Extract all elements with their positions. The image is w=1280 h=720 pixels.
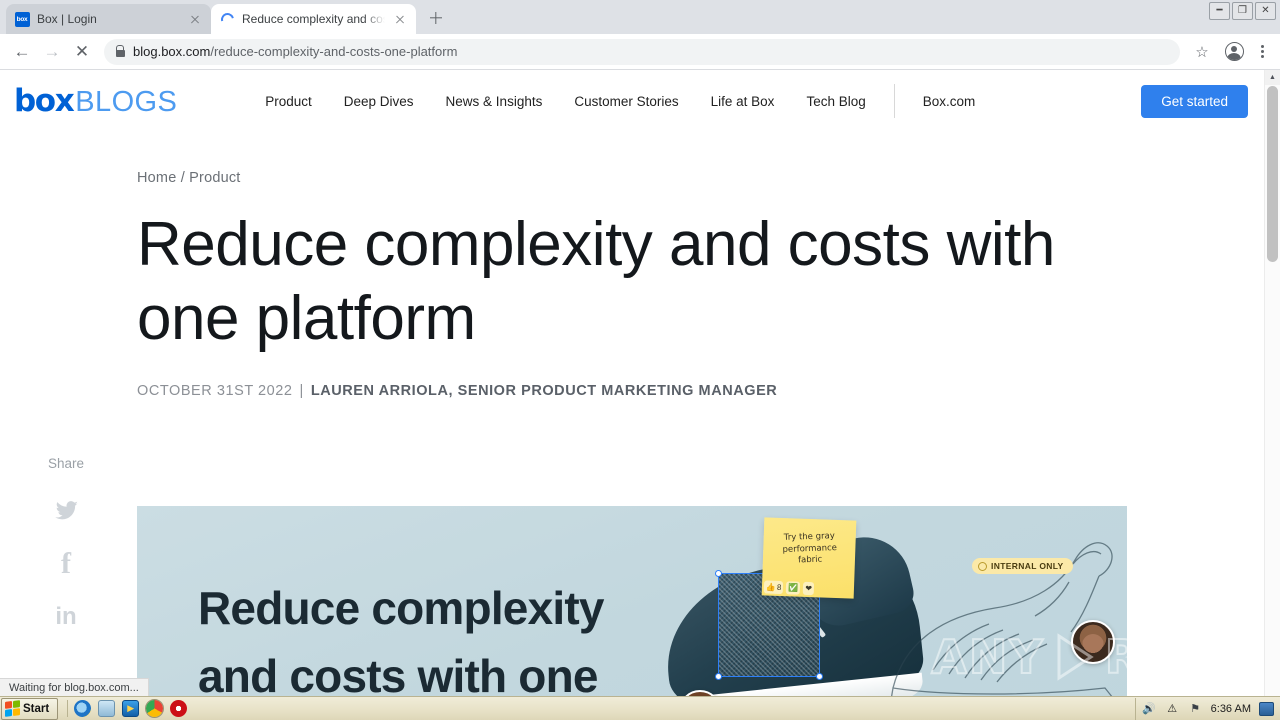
quick-launch: ▶ (67, 700, 187, 717)
tab-close-icon[interactable] (392, 11, 408, 27)
internal-only-badge: INTERNAL ONLY (972, 558, 1073, 574)
nav-item-news-insights[interactable]: News & Insights (430, 94, 559, 109)
reaction-heart[interactable]: ❤ (803, 582, 814, 595)
loading-spinner-icon (219, 11, 235, 27)
sticky-note-text: Try the gray performance fabric (763, 517, 857, 568)
clock[interactable]: 6:36 AM (1211, 703, 1251, 715)
taskbar: Start ▶ 🔊 ⚠ ⚑ 6:36 AM (0, 696, 1280, 720)
internet-explorer-icon[interactable] (74, 700, 91, 717)
breadcrumb[interactable]: Home / Product (137, 170, 1264, 186)
share-label: Share (48, 456, 84, 471)
page-viewport: box BLOGS Product Deep Dives News & Insi… (0, 70, 1280, 720)
kebab-menu-icon[interactable] (1252, 42, 1272, 62)
tab-title: Box | Login (37, 11, 180, 27)
media-player-icon[interactable]: ▶ (122, 700, 139, 717)
lock-icon (116, 50, 125, 57)
nav-divider (894, 84, 895, 118)
article-meta: OCTOBER 31ST 2022 | LAUREN ARRIOLA, SENI… (137, 383, 1264, 399)
shield-icon (978, 562, 987, 571)
stop-loading-button[interactable]: ✕ (68, 38, 96, 66)
nav-item-box-com[interactable]: Box.com (907, 94, 992, 109)
sticky-note[interactable]: Try the gray performance fabric 👍8 ✅ ❤ (762, 517, 857, 598)
profile-avatar-icon[interactable] (1220, 38, 1248, 66)
close-window-button[interactable]: ✕ (1255, 2, 1276, 20)
desktop-folder-icon[interactable] (98, 700, 115, 717)
show-desktop-icon[interactable] (1259, 702, 1274, 716)
start-label: Start (23, 703, 49, 715)
windows-logo-icon (5, 700, 20, 717)
url-path: /reduce-complexity-and-costs-one-platfor… (210, 44, 457, 59)
get-started-button[interactable]: Get started (1141, 85, 1248, 118)
browser-tab-box-login[interactable]: box Box | Login (6, 4, 211, 34)
nav-item-deep-dives[interactable]: Deep Dives (328, 94, 430, 109)
browser-window: box Box | Login Reduce complexity and co… (0, 0, 1280, 720)
reaction-thumbs-up[interactable]: 👍8 (764, 580, 784, 594)
publish-date: OCTOBER 31ST 2022 (137, 383, 293, 399)
url-host: blog.box.com (133, 44, 210, 59)
address-bar[interactable]: blog.box.com/reduce-complexity-and-costs… (104, 39, 1180, 65)
box-favicon: box (14, 11, 30, 27)
nav-item-customer-stories[interactable]: Customer Stories (558, 94, 694, 109)
shoe-illustration: Try the gray performance fabric 👍8 ✅ ❤ I… (657, 506, 1127, 720)
bookmark-star-icon[interactable]: ☆ (1188, 38, 1216, 66)
hero-image: Reduce complexity and costs with one pla… (137, 506, 1127, 720)
status-bar: Waiting for blog.box.com... (0, 678, 149, 696)
facebook-icon[interactable]: f (53, 551, 79, 577)
sticky-note-reactions[interactable]: 👍8 ✅ ❤ (764, 580, 815, 595)
start-button[interactable]: Start (1, 698, 58, 720)
page-content: box BLOGS Product Deep Dives News & Insi… (0, 70, 1264, 720)
scroll-up-arrow[interactable]: ▲ (1265, 70, 1280, 85)
linkedin-icon[interactable]: in (53, 604, 79, 630)
back-button[interactable]: ← (8, 38, 36, 66)
logo-suffix: BLOGS (75, 86, 177, 119)
browser-tab-blog-post[interactable]: Reduce complexity and costs with on (211, 4, 416, 34)
site-header: box BLOGS Product Deep Dives News & Insi… (0, 70, 1264, 132)
nav-item-life-at-box[interactable]: Life at Box (695, 94, 791, 109)
forward-button[interactable]: → (38, 38, 66, 66)
window-controls: ━ ❐ ✕ (1209, 2, 1276, 20)
reaction-check[interactable]: ✅ (786, 581, 800, 594)
system-tray: 🔊 ⚠ ⚑ 6:36 AM (1135, 698, 1280, 720)
tab-title: Reduce complexity and costs with on (242, 11, 385, 27)
new-tab-button[interactable] (422, 4, 450, 32)
internal-only-label: INTERNAL ONLY (991, 561, 1064, 571)
security-alert-icon[interactable]: ⚠ (1165, 702, 1180, 716)
opera-icon[interactable] (170, 700, 187, 717)
main-navigation: Product Deep Dives News & Insights Custo… (249, 84, 1141, 118)
scrollbar-thumb[interactable] (1267, 86, 1278, 262)
browser-toolbar: ← → ✕ blog.box.com/reduce-complexity-and… (0, 34, 1280, 70)
volume-icon[interactable]: 🔊 (1142, 702, 1157, 716)
article-header: Home / Product Reduce complexity and cos… (0, 132, 1264, 399)
page-title: Reduce complexity and costs with one pla… (137, 208, 1137, 356)
minimize-button[interactable]: ━ (1209, 2, 1230, 20)
share-rail: Share f in (48, 456, 84, 630)
nav-item-product[interactable]: Product (249, 94, 328, 109)
logo-brand: box (14, 83, 73, 119)
nav-item-tech-blog[interactable]: Tech Blog (790, 94, 881, 109)
tab-strip: box Box | Login Reduce complexity and co… (0, 0, 1280, 34)
page-scrollbar[interactable]: ▲ (1264, 70, 1280, 720)
toolbar-actions: ☆ (1188, 38, 1272, 66)
twitter-icon[interactable] (53, 498, 79, 524)
tab-close-icon[interactable] (187, 11, 203, 27)
network-flag-icon[interactable]: ⚑ (1188, 702, 1203, 716)
chrome-icon[interactable] (146, 700, 163, 717)
article-author: LAUREN ARRIOLA, SENIOR PRODUCT MARKETING… (311, 383, 778, 399)
restore-button[interactable]: ❐ (1232, 2, 1253, 20)
meta-separator: | (300, 383, 304, 399)
box-blogs-logo[interactable]: box BLOGS (14, 83, 177, 119)
avatar-male (1071, 620, 1115, 664)
